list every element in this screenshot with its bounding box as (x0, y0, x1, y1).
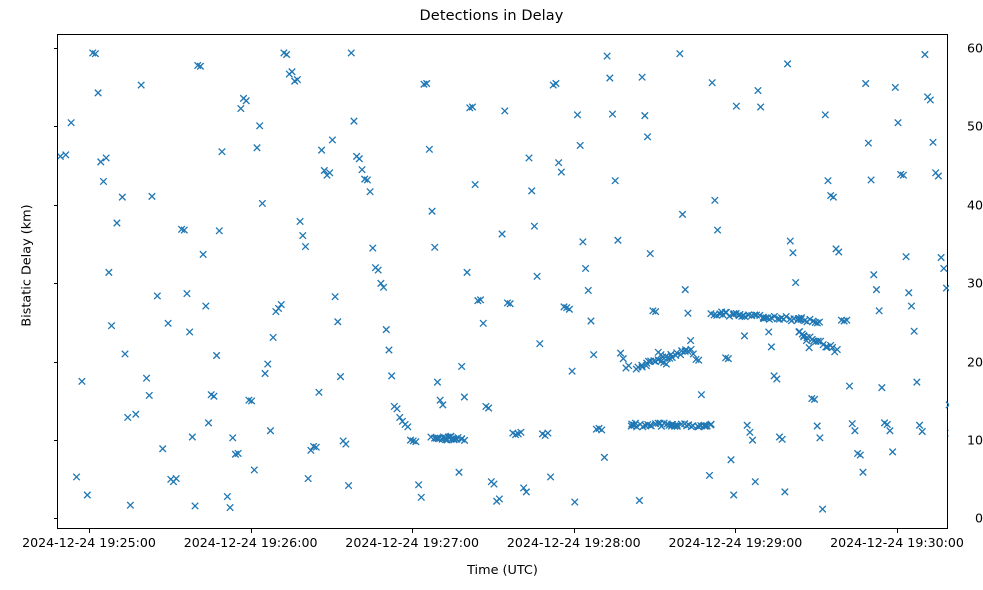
scatter-marker (733, 103, 740, 110)
scatter-marker (461, 394, 468, 401)
scatter-marker (58, 153, 64, 160)
scatter-marker (709, 79, 716, 86)
scatter-marker (914, 379, 921, 386)
scatter-marker (774, 376, 781, 383)
scatter-marker (378, 280, 385, 287)
scatter-marker (216, 228, 223, 235)
scatter-marker (329, 137, 336, 144)
scatter-marker (388, 373, 395, 380)
scatter-marker (862, 80, 869, 87)
scatter-marker (537, 340, 544, 347)
scatter-marker (906, 290, 913, 296)
scatter-marker (472, 181, 479, 188)
scatter-marker (265, 361, 272, 368)
scatter-marker (757, 104, 764, 111)
scatter-marker (744, 422, 751, 429)
scatter-marker (332, 293, 339, 300)
scatter-marker (219, 148, 226, 155)
scatter-marker (200, 251, 207, 257)
scatter-marker (426, 146, 433, 153)
scatter-marker (830, 194, 837, 201)
scatter-marker (297, 218, 304, 225)
scatter-marker (884, 421, 891, 428)
scatter-marker (429, 208, 436, 215)
scatter-marker (254, 145, 260, 152)
scatter-marker (84, 492, 91, 499)
scatter-marker (520, 485, 527, 492)
y-tick-mark (54, 126, 58, 127)
x-tick-mark (735, 529, 736, 533)
scatter-marker (224, 493, 231, 500)
scatter-marker (852, 427, 859, 434)
scatter-marker (730, 492, 737, 499)
scatter-marker (146, 392, 153, 399)
scatter-marker (499, 231, 506, 238)
scatter-marker (919, 428, 926, 435)
scatter-marker (491, 481, 498, 488)
y-tick-label: 20 (937, 354, 983, 369)
scatter-marker (165, 320, 172, 327)
scatter-marker (749, 437, 756, 444)
scatter-marker (256, 123, 263, 130)
scatter-marker (625, 362, 632, 369)
scatter-marker (714, 227, 721, 234)
scatter-marker (143, 375, 150, 382)
scatter-marker (300, 232, 307, 239)
scatter-marker (418, 494, 425, 501)
scatter-marker (822, 112, 829, 119)
scatter-marker (534, 273, 541, 280)
scatter-marker (790, 250, 797, 256)
scatter-marker (873, 286, 880, 293)
y-tick-mark (54, 48, 58, 49)
scatter-marker (270, 334, 277, 341)
x-tick-mark (897, 529, 898, 533)
y-tick-label: 30 (937, 276, 983, 291)
scatter-marker (98, 159, 105, 166)
y-tick-mark (54, 283, 58, 284)
scatter-marker (106, 269, 113, 276)
scatter-marker (871, 271, 878, 278)
scatter-marker (685, 310, 692, 317)
scatter-marker (787, 238, 794, 245)
x-tick-mark (89, 529, 90, 533)
scatter-marker (782, 489, 789, 496)
scatter-marker (335, 319, 342, 326)
scatter-marker (294, 76, 301, 83)
scatter-marker (601, 454, 608, 461)
scatter-marker (278, 301, 285, 308)
scatter-marker (205, 420, 212, 427)
scatter-marker (876, 308, 883, 315)
scatter-marker (612, 177, 619, 184)
scatter-marker (846, 383, 853, 390)
scatter-marker (502, 108, 509, 115)
scatter-marker-group (58, 50, 949, 513)
scatter-marker (227, 504, 234, 511)
y-axis-label: Bistatic Delay (km) (20, 136, 35, 396)
scatter-marker (558, 169, 565, 176)
scatter-marker (553, 80, 560, 87)
scatter-marker (747, 429, 754, 436)
scatter-marker (892, 84, 899, 91)
scatter-marker (706, 472, 713, 479)
scatter-marker (755, 87, 762, 94)
scatter-marker (259, 200, 266, 207)
scatter-marker (159, 446, 166, 453)
scatter-marker (367, 188, 374, 195)
scatter-marker (849, 420, 856, 427)
scatter-marker (889, 449, 896, 456)
x-tick-label: 2024-12-24 19:27:00 (345, 535, 479, 550)
scatter-marker (316, 389, 323, 396)
scatter-marker (682, 286, 689, 293)
scatter-marker (119, 194, 126, 201)
scatter-marker (432, 244, 439, 251)
scatter-marker (356, 155, 363, 162)
scatter-marker (647, 250, 654, 257)
scatter-marker (741, 333, 748, 340)
scatter-marker (555, 159, 562, 166)
scatter-marker (108, 322, 115, 329)
y-tick-label: 40 (937, 197, 983, 212)
scatter-marker (698, 391, 705, 398)
scatter-marker (922, 51, 929, 58)
figure-canvas: Detections in Delay 2024-12-24 19:25:002… (0, 0, 983, 590)
x-tick-label: 2024-12-24 19:29:00 (669, 535, 803, 550)
chart-title: Detections in Delay (0, 8, 983, 24)
scatter-marker (149, 193, 156, 200)
scatter-marker (590, 351, 597, 358)
scatter-marker (124, 414, 130, 421)
scatter-marker (480, 320, 487, 327)
y-tick-label: 50 (937, 119, 983, 134)
scatter-marker (728, 456, 735, 463)
x-tick-label: 2024-12-24 19:26:00 (184, 535, 318, 550)
scatter-marker (114, 220, 121, 227)
scatter-marker (251, 467, 257, 474)
scatter-marker (526, 155, 533, 162)
scatter-marker (464, 269, 471, 276)
x-tick-label: 2024-12-24 19:25:00 (22, 535, 156, 550)
scatter-marker (930, 139, 937, 146)
scatter-marker (572, 499, 579, 506)
scatter-marker (230, 435, 237, 442)
scatter-marker (879, 384, 886, 391)
scatter-marker (547, 474, 554, 481)
scatter-series (58, 35, 949, 530)
y-tick-mark (54, 440, 58, 441)
plot-axes-area (57, 34, 948, 529)
scatter-marker (133, 411, 140, 418)
scatter-marker (938, 254, 945, 261)
scatter-marker (545, 430, 552, 437)
scatter-marker (916, 422, 923, 429)
scatter-marker (765, 329, 772, 336)
scatter-marker (127, 502, 133, 509)
scatter-marker (275, 305, 282, 312)
scatter-marker (911, 328, 918, 335)
scatter-marker (784, 61, 791, 68)
scatter-marker (598, 427, 605, 434)
scatter-marker (582, 265, 589, 272)
scatter-marker (95, 90, 102, 97)
y-tick-mark (54, 205, 58, 206)
scatter-marker (434, 379, 441, 386)
scatter-marker (687, 337, 694, 344)
x-tick-mark (574, 529, 575, 533)
scatter-marker (609, 111, 616, 118)
scatter-marker (138, 82, 145, 89)
scatter-marker (380, 284, 387, 291)
scatter-marker (267, 427, 274, 434)
scatter-marker (262, 370, 269, 377)
scatter-marker (283, 51, 290, 58)
scatter-marker (73, 474, 80, 481)
scatter-marker (359, 166, 366, 173)
scatter-marker (79, 378, 86, 385)
scatter-marker (343, 441, 350, 448)
scatter-marker (752, 478, 759, 485)
scatter-marker (679, 211, 686, 218)
scatter-marker (386, 347, 393, 354)
scatter-marker (456, 469, 463, 476)
scatter-marker (588, 318, 595, 325)
scatter-marker (370, 245, 377, 252)
x-tick-label: 2024-12-24 19:30:00 (830, 535, 964, 550)
scatter-marker (337, 373, 344, 380)
scatter-marker (458, 363, 465, 370)
scatter-marker (712, 197, 719, 204)
scatter-marker (243, 97, 250, 104)
scatter-marker (238, 105, 245, 112)
scatter-marker (345, 482, 352, 489)
scatter-marker (211, 393, 218, 400)
scatter-marker (895, 119, 902, 126)
scatter-marker (405, 424, 412, 431)
x-tick-label: 2024-12-24 19:28:00 (507, 535, 641, 550)
scatter-marker (289, 68, 296, 75)
scatter-marker (531, 223, 538, 230)
y-tick-label: 10 (937, 432, 983, 447)
scatter-marker (677, 50, 684, 57)
scatter-marker (203, 303, 210, 310)
scatter-marker (305, 475, 312, 482)
scatter-marker (941, 265, 948, 272)
scatter-marker (523, 489, 530, 496)
scatter-marker (184, 290, 191, 297)
scatter-marker (935, 173, 942, 180)
scatter-marker (868, 177, 875, 184)
scatter-marker (186, 329, 193, 336)
scatter-marker (825, 177, 832, 184)
scatter-marker (814, 423, 821, 430)
scatter-marker (585, 287, 592, 294)
scatter-marker (604, 53, 611, 60)
scatter-marker (857, 452, 864, 459)
scatter-marker (865, 140, 872, 147)
x-axis-label: Time (UTC) (57, 563, 948, 578)
scatter-marker (817, 435, 824, 442)
scatter-marker (887, 427, 894, 434)
scatter-marker (644, 134, 651, 141)
scatter-marker (100, 178, 107, 185)
scatter-marker (779, 436, 786, 443)
scatter-marker (792, 279, 799, 286)
scatter-marker (946, 402, 949, 409)
scatter-marker (927, 97, 934, 104)
x-tick-mark (251, 529, 252, 533)
scatter-marker (908, 303, 915, 310)
scatter-marker (860, 469, 867, 476)
scatter-marker (636, 497, 643, 504)
scatter-marker (213, 352, 220, 359)
scatter-marker (383, 326, 390, 333)
scatter-marker (375, 267, 382, 274)
scatter-marker (189, 434, 196, 441)
scatter-marker (192, 503, 199, 510)
scatter-marker (607, 75, 614, 82)
scatter-marker (903, 253, 910, 260)
scatter-marker (63, 152, 70, 159)
scatter-marker (173, 475, 180, 482)
scatter-marker (103, 155, 110, 162)
scatter-marker (496, 496, 503, 503)
scatter-marker (819, 506, 826, 513)
scatter-marker (394, 406, 401, 413)
scatter-marker (396, 414, 403, 421)
y-tick-mark (54, 362, 58, 363)
scatter-marker (642, 112, 649, 119)
scatter-marker (615, 237, 622, 244)
scatter-marker (485, 405, 492, 412)
y-tick-mark (54, 518, 58, 519)
scatter-marker (639, 74, 646, 81)
scatter-marker (154, 293, 161, 300)
y-tick-label: 60 (937, 41, 983, 56)
scatter-marker (580, 239, 587, 246)
scatter-marker (122, 351, 129, 358)
scatter-marker (318, 147, 325, 154)
scatter-marker (351, 118, 358, 125)
scatter-marker (528, 188, 535, 195)
scatter-marker (569, 368, 576, 375)
scatter-marker (415, 482, 422, 489)
scatter-marker (768, 344, 775, 351)
scatter-marker (302, 243, 309, 250)
scatter-marker (574, 112, 581, 119)
scatter-marker (577, 142, 584, 149)
scatter-marker (348, 50, 355, 57)
y-tick-label: 0 (937, 511, 983, 526)
scatter-marker (836, 249, 843, 256)
scatter-marker (806, 344, 813, 351)
x-tick-mark (412, 529, 413, 533)
scatter-marker (68, 119, 75, 126)
